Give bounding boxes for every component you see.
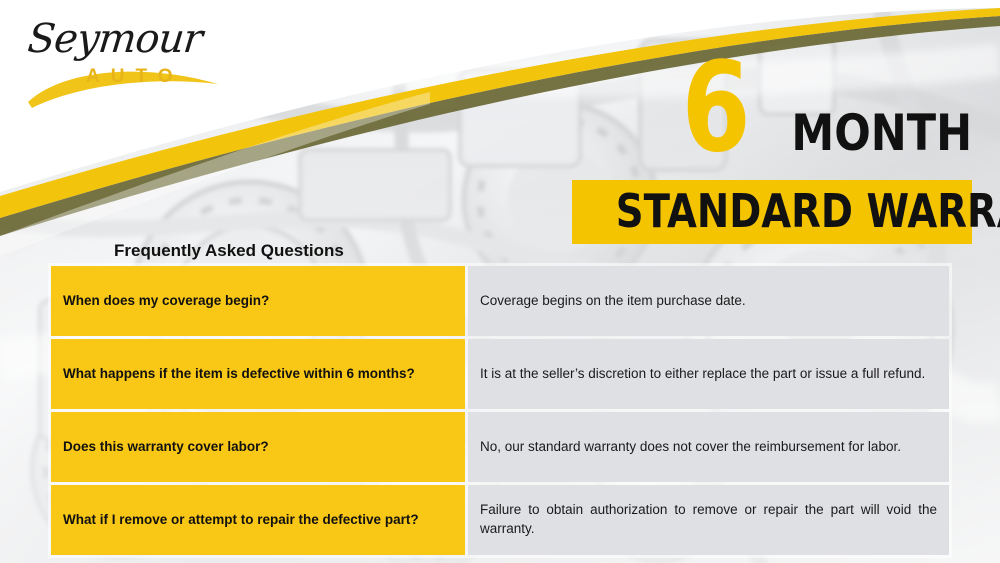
- logo-wordmark: Seymour: [26, 16, 204, 62]
- faq-answer-cell: Failure to obtain authorization to remov…: [468, 485, 949, 555]
- faq-heading: Frequently Asked Questions: [114, 241, 344, 261]
- seymour-auto-logo: Seymour AUTO: [22, 14, 237, 106]
- faq-question-cell: What if I remove or attempt to repair th…: [51, 485, 465, 555]
- faq-question-cell: What happens if the item is defective wi…: [51, 339, 465, 409]
- standard-warranty-banner-text: STANDARD WARRANTY: [616, 188, 928, 234]
- faq-answer-cell: It is at the seller’s discretion to eith…: [468, 339, 949, 409]
- faq-answer-cell: Coverage begins on the item purchase dat…: [468, 266, 949, 336]
- faq-question-cell: When does my coverage begin?: [51, 266, 465, 336]
- warranty-duration-unit: MONTH: [791, 110, 972, 161]
- warranty-headline: 6 MONTH STANDARD WARRANTY: [572, 52, 972, 244]
- faq-question-cell: Does this warranty cover labor?: [51, 412, 465, 482]
- logo-sub-wordmark: AUTO: [86, 66, 183, 88]
- warranty-slide: Seymour AUTO 6 MONTH STANDARD WARRANTY F…: [0, 0, 1000, 563]
- table-row: What happens if the item is defective wi…: [51, 339, 949, 409]
- table-row: What if I remove or attempt to repair th…: [51, 485, 949, 555]
- headline-duration-row: 6 MONTH: [572, 52, 972, 160]
- standard-warranty-banner: STANDARD WARRANTY: [572, 180, 972, 244]
- warranty-duration-number: 6: [681, 58, 748, 160]
- faq-answer-cell: No, our standard warranty does not cover…: [468, 412, 949, 482]
- table-row: Does this warranty cover labor? No, our …: [51, 412, 949, 482]
- table-row: When does my coverage begin? Coverage be…: [51, 266, 949, 336]
- faq-table: When does my coverage begin? Coverage be…: [48, 263, 952, 558]
